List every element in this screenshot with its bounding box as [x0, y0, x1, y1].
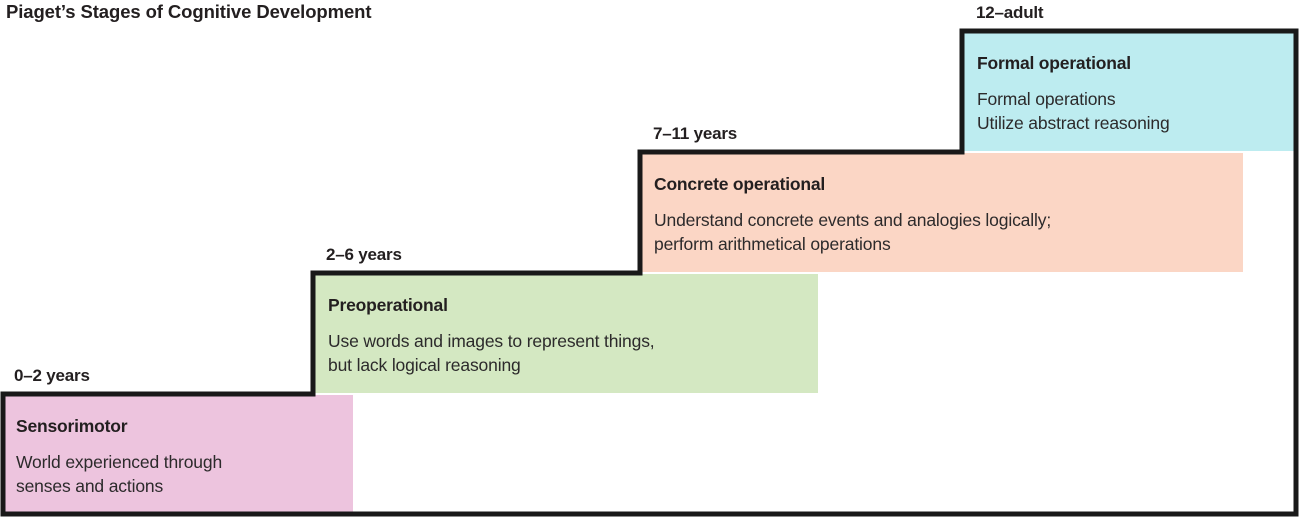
- stage-name-concrete-operational: Concrete operational: [654, 174, 825, 195]
- stage-name-formal-operational: Formal operational: [977, 53, 1131, 74]
- stage-description-sensorimotor: World experienced through senses and act…: [16, 451, 346, 498]
- age-label-concrete-operational: 7–11 years: [653, 124, 737, 144]
- stage-name-sensorimotor: Sensorimotor: [16, 416, 127, 437]
- age-label-sensorimotor: 0–2 years: [14, 366, 90, 386]
- stage-description-preoperational: Use words and images to represent things…: [328, 330, 813, 377]
- stage-description-concrete-operational: Understand concrete events and analogies…: [654, 209, 1239, 256]
- piaget-stages-diagram: Piaget’s Stages of Cognitive Development…: [0, 0, 1304, 519]
- page-title: Piaget’s Stages of Cognitive Development: [6, 1, 371, 23]
- stage-name-preoperational: Preoperational: [328, 295, 448, 316]
- age-label-preoperational: 2–6 years: [326, 245, 402, 265]
- stage-description-formal-operational: Formal operations Utilize abstract reaso…: [977, 88, 1289, 135]
- age-label-formal-operational: 12–adult: [976, 3, 1043, 23]
